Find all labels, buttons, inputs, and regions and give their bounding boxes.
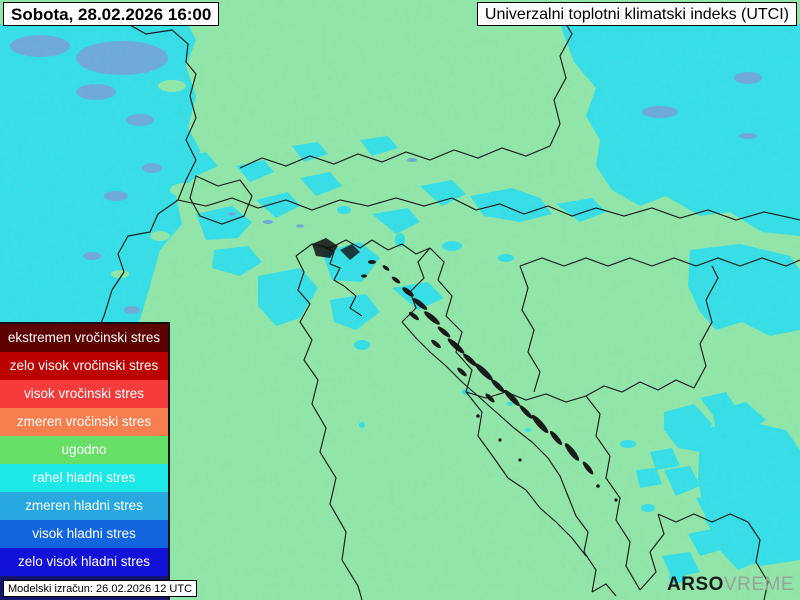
logo-arso-text: ARSO bbox=[667, 574, 724, 595]
model-run-label: Modelski izračun: 26.02.2026 12 UTC bbox=[3, 580, 197, 597]
legend-label: zelo visok vročinski stres bbox=[10, 358, 159, 373]
legend-label: visok hladni stres bbox=[32, 526, 136, 541]
legend-row: visok hladni stres bbox=[0, 520, 168, 548]
legend-label: ekstremen vročinski stres bbox=[8, 330, 160, 345]
legend-row: ekstremen vročinski stres bbox=[0, 324, 168, 352]
arso-vreme-logo[interactable]: ARSOVREME bbox=[667, 574, 794, 596]
legend-label: zmeren hladni stres bbox=[25, 498, 143, 513]
forecast-datetime-label: Sobota, 28.02.2026 16:00 bbox=[3, 2, 219, 26]
legend-row: zelo visok vročinski stres bbox=[0, 352, 168, 380]
legend-row: zmeren hladni stres bbox=[0, 492, 168, 520]
logo-vreme-text: VREME bbox=[724, 574, 794, 595]
legend-label: rahel hladni stres bbox=[33, 470, 136, 485]
legend-row: visok vročinski stres bbox=[0, 380, 168, 408]
legend-row: rahel hladni stres bbox=[0, 464, 168, 492]
utci-forecast-map-page: Sobota, 28.02.2026 16:00 Univerzalni top… bbox=[0, 0, 800, 600]
utci-legend: ekstremen vročinski streszelo visok vroč… bbox=[0, 322, 170, 600]
legend-label: zelo visok hladni stres bbox=[18, 554, 150, 569]
legend-label: ugodno bbox=[61, 442, 106, 457]
legend-label: visok vročinski stres bbox=[24, 386, 144, 401]
legend-row: ugodno bbox=[0, 436, 168, 464]
legend-label: zmeren vročinski stres bbox=[17, 414, 151, 429]
legend-row: zelo visok hladni stres bbox=[0, 548, 168, 576]
map-title: Univerzalni toplotni klimatski indeks (U… bbox=[477, 2, 797, 26]
legend-row: zmeren vročinski stres bbox=[0, 408, 168, 436]
